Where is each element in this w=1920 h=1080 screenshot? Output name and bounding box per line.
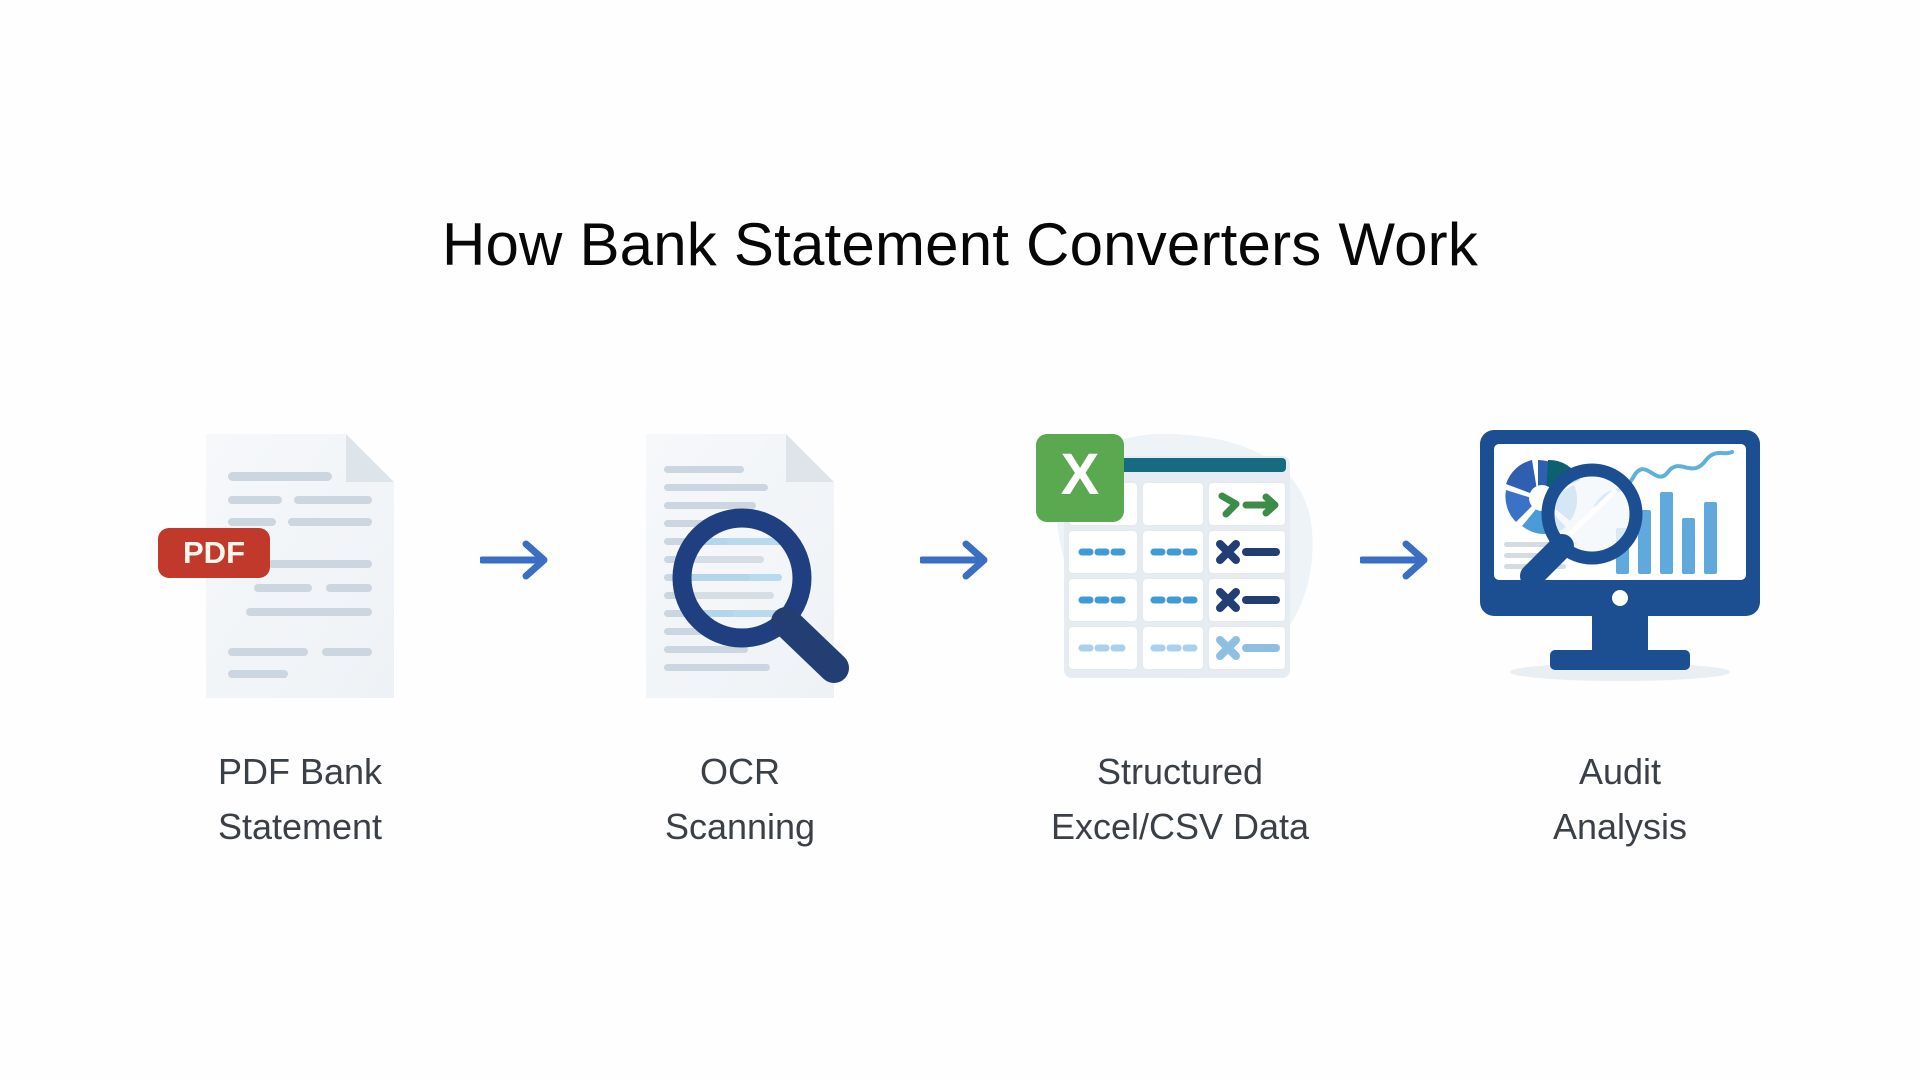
label-line: Excel/CSV Data [1030, 800, 1330, 855]
step-structured-excel-csv-data[interactable]: X [1030, 410, 1330, 710]
arrow-3 [1352, 530, 1448, 590]
label-line: Statement [150, 800, 450, 855]
label-line: Scanning [590, 800, 890, 855]
label-line: OCR [590, 745, 890, 800]
infographic-canvas: How Bank Statement Converters Work [0, 0, 1920, 1080]
step-audit-analysis[interactable] [1470, 410, 1770, 710]
arrow-2 [912, 530, 1008, 590]
step-pdf-bank-statement[interactable]: PDF [150, 410, 450, 710]
label-line: Audit [1470, 745, 1770, 800]
label-line: Structured [1030, 745, 1330, 800]
pdf-document-icon: PDF [150, 410, 450, 710]
process-flow: PDF [150, 400, 1770, 720]
document-magnifier-icon [590, 410, 890, 710]
arrow-right-icon [1360, 538, 1440, 582]
arrow-right-icon [920, 538, 1000, 582]
spreadsheet-excel-icon: X [1030, 410, 1330, 710]
label-ocr-scanning: OCR Scanning [590, 745, 890, 854]
arrow-right-icon [480, 538, 560, 582]
arrow-1 [472, 530, 568, 590]
page-title: How Bank Statement Converters Work [0, 215, 1920, 275]
monitor-dashboard-magnifier-icon [1470, 410, 1770, 710]
label-pdf-bank-statement: PDF Bank Statement [150, 745, 450, 854]
label-line: Analysis [1470, 800, 1770, 855]
pdf-badge-label: PDF [183, 535, 245, 570]
step-labels-row: PDF Bank Statement OCR Scanning Structur… [150, 745, 1770, 854]
label-structured-excel-csv-data: Structured Excel/CSV Data [1030, 745, 1330, 854]
step-ocr-scanning[interactable] [590, 410, 890, 710]
excel-badge-label: X [1061, 442, 1100, 507]
label-line: PDF Bank [150, 745, 450, 800]
label-audit-analysis: Audit Analysis [1470, 745, 1770, 854]
